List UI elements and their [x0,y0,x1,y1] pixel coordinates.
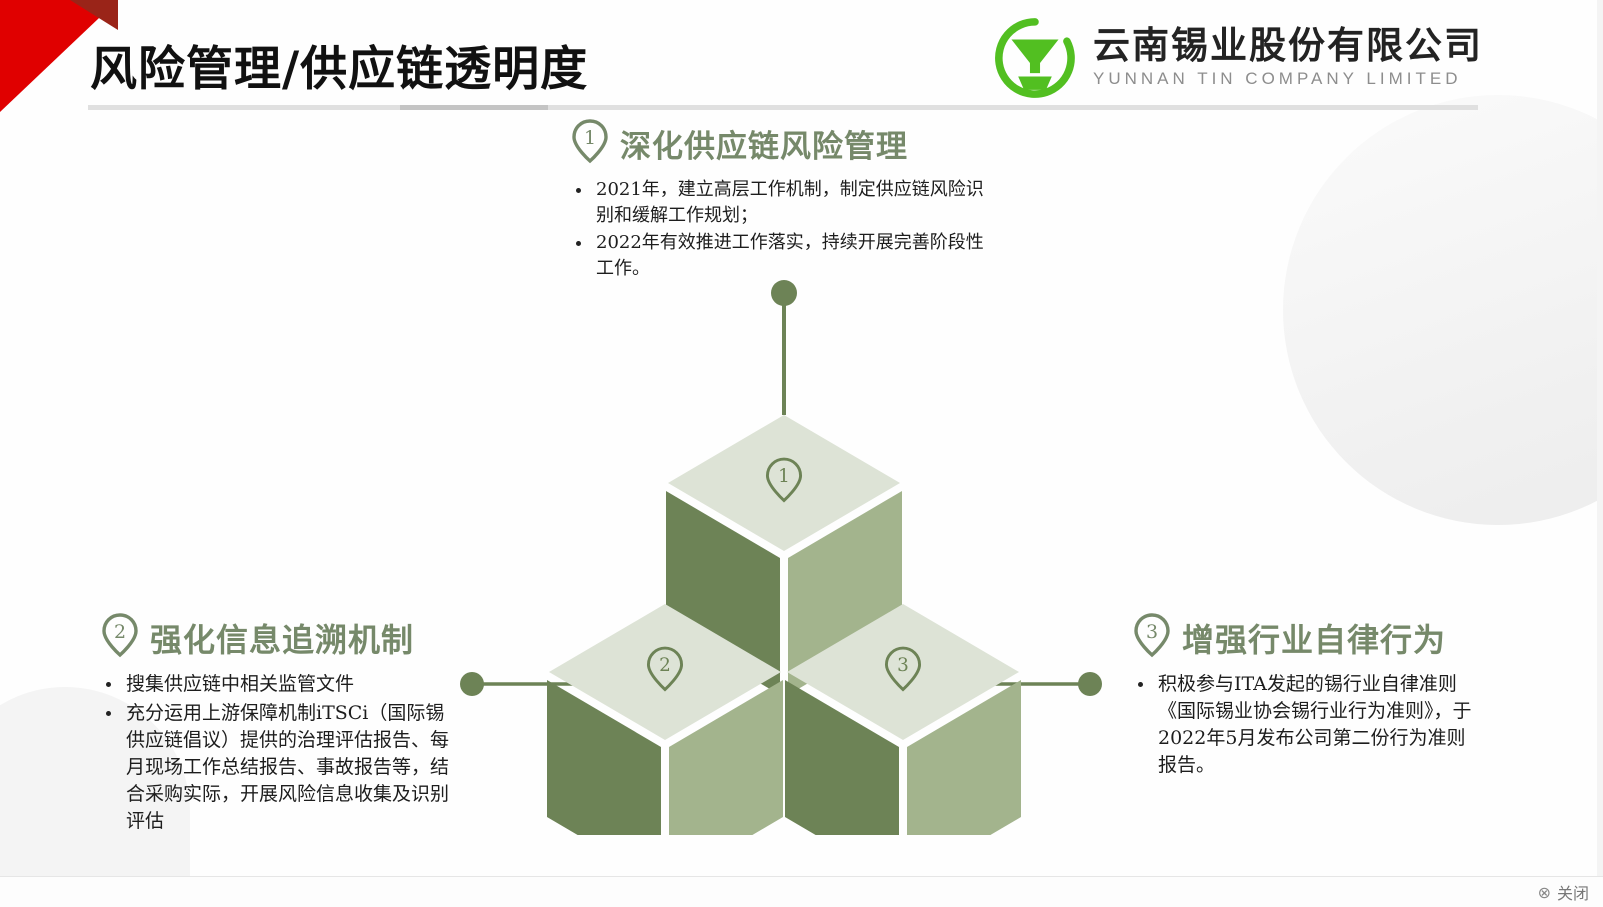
section-3: 3 增强行业自律行为 积极参与ITA发起的锡行业自律准则《国际锡业协会锡行业行为… [1132,612,1482,781]
section-2-bullets: 搜集供应链中相关监管文件 充分运用上游保障机制iTSCi（国际锡供应链倡议）提供… [100,671,450,835]
section-3-title: 增强行业自律行为 [1182,615,1446,661]
map-pin-1-icon: 1 [570,118,610,169]
list-item: 搜集供应链中相关监管文件 [100,671,450,698]
section-2-header: 2 强化信息追溯机制 [100,612,450,663]
close-button-label: 关闭 [1557,880,1589,904]
map-pin-2-icon: 2 [100,612,140,663]
section-2: 2 强化信息追溯机制 搜集供应链中相关监管文件 充分运用上游保障机制iTSCi（… [100,612,450,837]
svg-text:1: 1 [584,127,596,149]
list-item: 充分运用上游保障机制iTSCi（国际锡供应链倡议）提供的治理评估报告、每月现场工… [100,700,450,835]
svg-text:3: 3 [897,655,909,676]
section-1-bullets: 2021年，建立高层工作机制，制定供应链风险识别和缓解工作规划； 2022年有效… [570,177,990,281]
section-1-header: 1 深化供应链风险管理 [570,118,990,169]
scrollbar-track[interactable] [1597,0,1603,907]
close-circle-icon: ⊗ [1538,883,1551,902]
section-3-bullets: 积极参与ITA发起的锡行业自律准则《国际锡业协会锡行业行为准则》，于2022年5… [1132,671,1482,779]
connector-dot-left [460,672,484,696]
title-divider [88,105,1478,110]
section-1-title: 深化供应链风险管理 [620,121,908,166]
yunnan-tin-logo-icon [993,16,1077,100]
company-brand: 云南锡业股份有限公司 YUNNAN TIN COMPANY LIMITED [993,16,1483,100]
company-name-en: YUNNAN TIN COMPANY LIMITED [1093,69,1483,89]
svg-text:1: 1 [778,466,790,487]
section-1: 1 深化供应链风险管理 2021年，建立高层工作机制，制定供应链风险识别和缓解工… [570,118,990,283]
svg-text:2: 2 [659,655,671,676]
title-divider-accent [400,105,548,110]
page-title: 风险管理/供应链透明度 [90,30,588,99]
close-button[interactable]: ⊗ 关闭 [1538,880,1589,904]
connector-dot-right [1078,672,1102,696]
bottom-bar: ⊗ 关闭 [0,876,1603,907]
decorative-circle-top-right [1283,95,1603,525]
slide-canvas: 风险管理/供应链透明度 云南锡业股份有限公司 YUNNAN TIN COMPAN… [0,0,1603,907]
section-2-title: 强化信息追溯机制 [150,615,414,661]
isometric-cube-diagram: 1 2 3 [440,275,1120,835]
list-item: 2021年，建立高层工作机制，制定供应链风险识别和缓解工作规划； [570,177,990,228]
section-3-header: 3 增强行业自律行为 [1132,612,1482,663]
list-item: 积极参与ITA发起的锡行业自律准则《国际锡业协会锡行业行为准则》，于2022年5… [1132,671,1482,779]
svg-text:3: 3 [1146,621,1158,643]
connector-dot-top [771,280,797,306]
list-item: 2022年有效推进工作落实，持续开展完善阶段性工作。 [570,230,990,281]
svg-text:2: 2 [114,621,126,643]
map-pin-3-icon: 3 [1132,612,1172,663]
company-name-cn: 云南锡业股份有限公司 [1093,27,1483,66]
